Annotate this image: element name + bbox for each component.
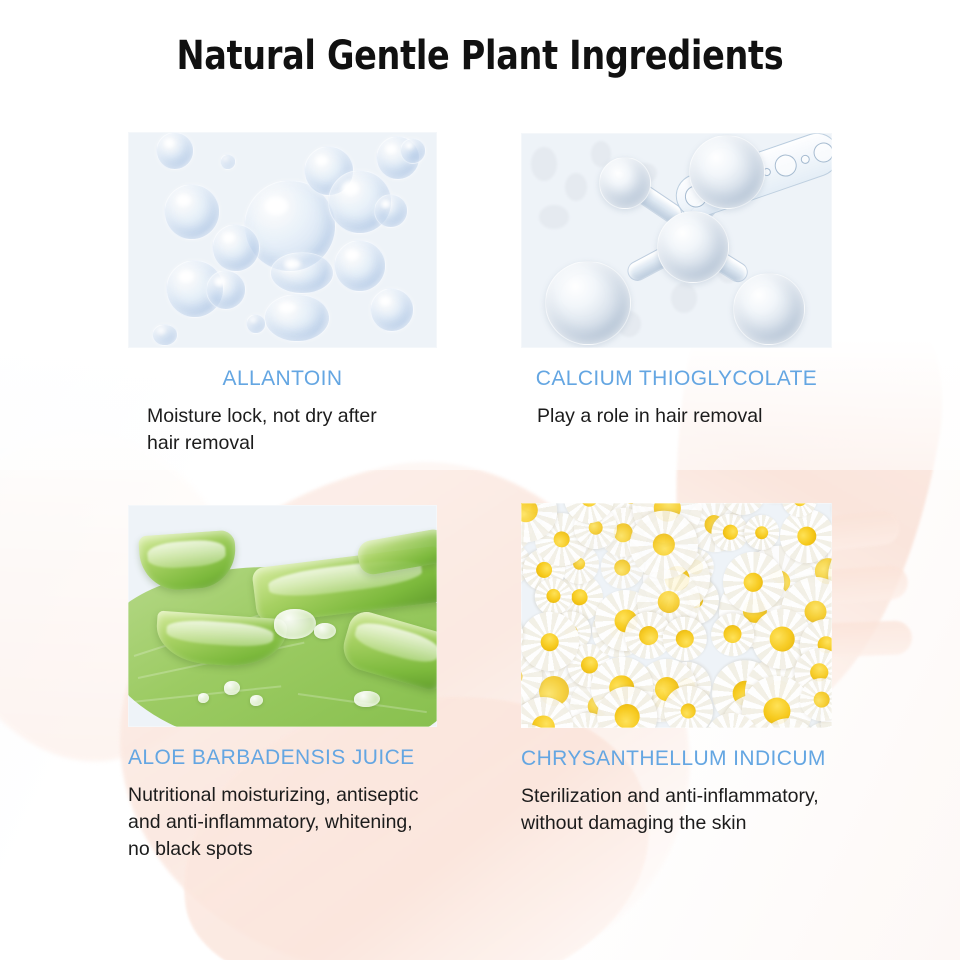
bubble-shape [264, 294, 330, 342]
atom-sphere [689, 135, 765, 209]
bubble-shape [370, 288, 414, 332]
ingredient-name: CALCIUM THIOGLYCOLATE [521, 367, 832, 391]
atom-sphere [599, 157, 651, 209]
ingredient-name: CHRYSANTHELLUM INDICUM [521, 747, 832, 771]
ingredient-description: Play a role in hair removal [537, 403, 871, 430]
bubble-shape [270, 252, 334, 294]
ingredient-card-chrysanthellum-indicum: CHRYSANTHELLUM INDICUM Sterilization and… [521, 503, 871, 837]
bubble-shape [156, 132, 194, 170]
bubble-shape [220, 154, 236, 170]
bubble-shape [212, 224, 260, 272]
ingredient-name: ALLANTOIN [128, 367, 437, 391]
bubble-shape [164, 184, 220, 240]
atom-sphere [657, 211, 729, 283]
atom-sphere [733, 273, 805, 345]
infographic-page: Natural Gentle Plant Ingredients ALLANTO… [0, 0, 960, 960]
aloe-vera-photo [128, 505, 437, 727]
ingredient-card-aloe-barbadensis: ALOE BARBADENSIS JUICE Nutritional moist… [128, 505, 478, 863]
ingredient-description: Sterilization and anti-inflammatory, wit… [521, 783, 871, 837]
bubble-shape [152, 324, 178, 346]
water-bubbles-photo [128, 132, 437, 348]
daisy-flower [660, 614, 712, 666]
atom-sphere [545, 261, 631, 345]
bubble-shape [374, 194, 408, 228]
ingredient-card-allantoin: ALLANTOIN Moisture lock, not dry after h… [128, 132, 458, 457]
bubble-shape [400, 138, 426, 164]
bubble-shape [246, 314, 266, 334]
chamomile-flowers-photo [521, 503, 832, 728]
molecule-structure-photo [521, 133, 832, 348]
bubble-shape [206, 270, 246, 310]
ingredient-name: ALOE BARBADENSIS JUICE [128, 746, 437, 770]
ingredient-description: Moisture lock, not dry after hair remova… [147, 403, 458, 457]
bubble-shape [334, 240, 386, 292]
ingredient-card-calcium-thioglycolate: CALCIUM THIOGLYCOLATE Play a role in hai… [521, 133, 871, 430]
page-title: Natural Gentle Plant Ingredients [34, 33, 927, 79]
ingredient-description: Nutritional moisturizing, antiseptic and… [128, 782, 478, 863]
